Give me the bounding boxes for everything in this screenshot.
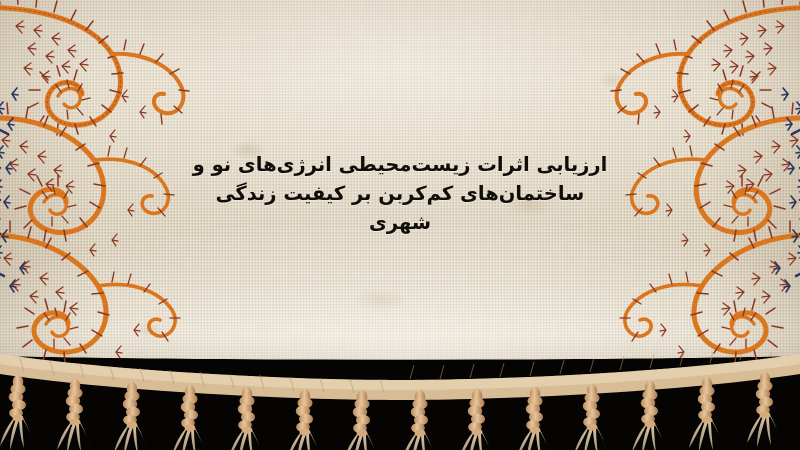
cloth-edge-shadow — [0, 336, 800, 374]
black-backdrop — [0, 370, 800, 450]
slide-canvas: ارزیابی اثرات زیست‌محیطی انرژی‌های نو و … — [0, 0, 800, 450]
cloth-aging-stains — [0, 0, 800, 374]
textile-cloth — [0, 0, 800, 374]
